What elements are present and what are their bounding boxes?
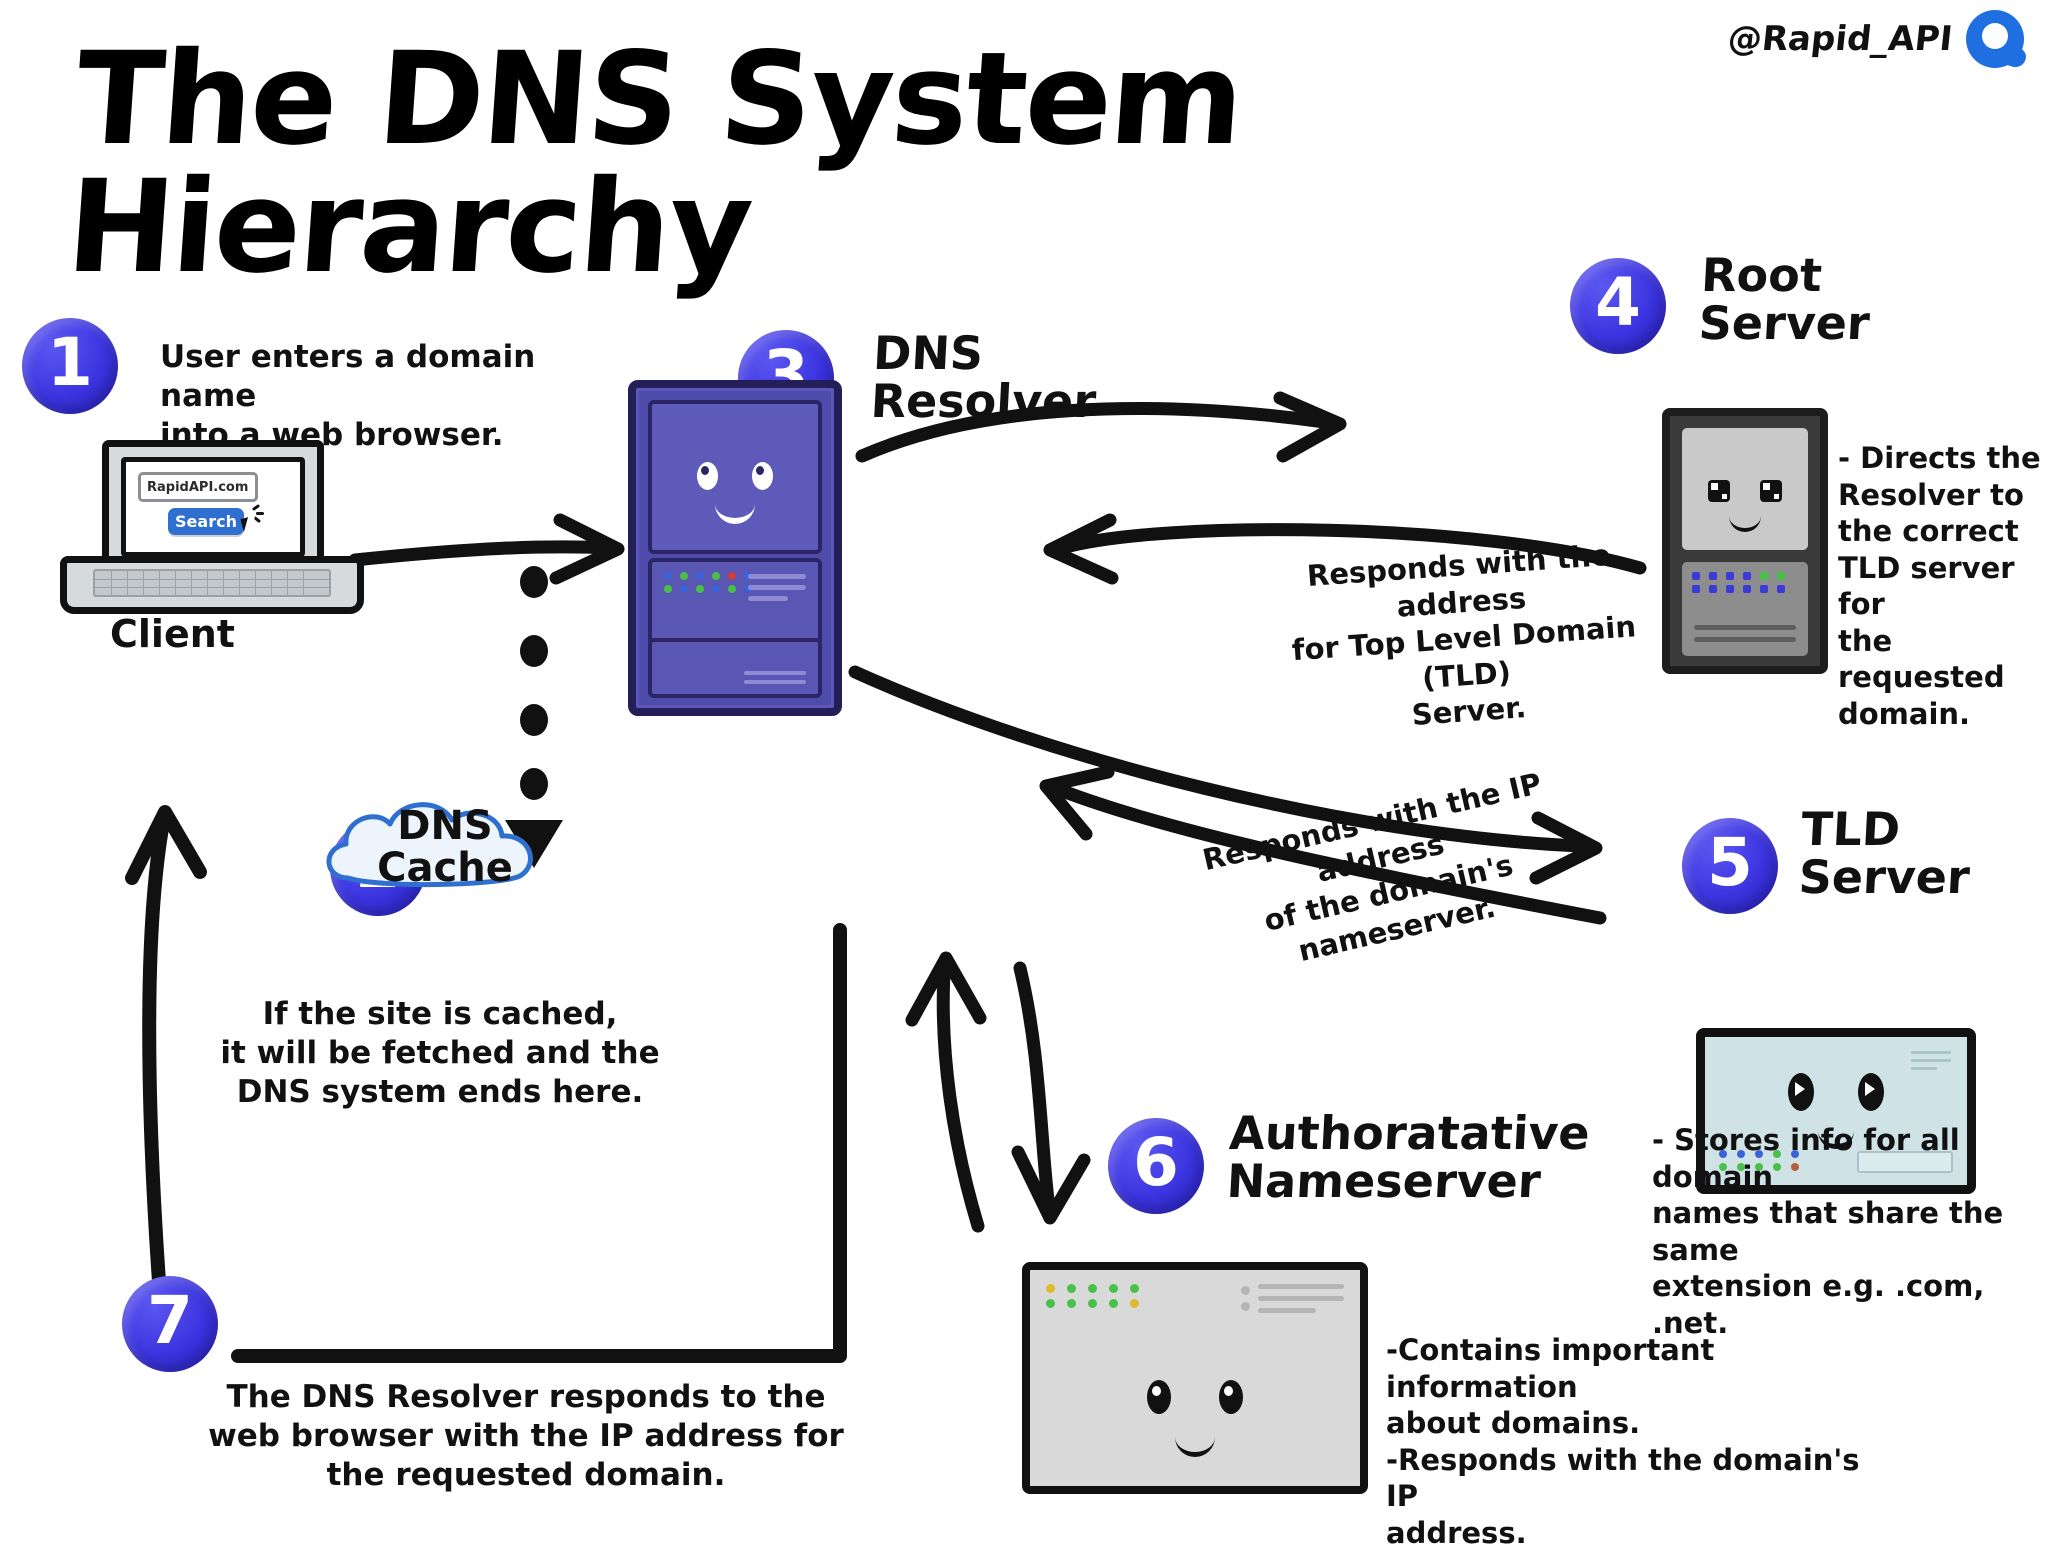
step-number-6: 6 xyxy=(1133,1130,1179,1196)
authoritative-nameserver-note: -Contains important information about do… xyxy=(1386,1332,1886,1551)
root-response-label: Responds with the address for Top Level … xyxy=(1278,535,1650,742)
step-badge-4: 4 xyxy=(1570,258,1666,354)
brand-handle: @Rapid_API xyxy=(1726,19,1955,59)
client-label: Client xyxy=(110,612,235,656)
client-laptop: RapidAPI.com Search xyxy=(60,440,350,600)
step-badge-5: 5 xyxy=(1682,818,1778,914)
dns-resolver-label: DNS Resolver xyxy=(869,330,1174,426)
page-title: The DNS System Hierarchy xyxy=(63,36,1501,292)
search-button[interactable]: Search xyxy=(168,508,244,535)
step-number-7: 7 xyxy=(147,1288,193,1354)
dns-resolver-box xyxy=(628,380,842,716)
root-server-note: - Directs the Resolver to the correct TL… xyxy=(1838,440,2048,732)
rapidapi-r-logo-icon xyxy=(1966,10,2024,68)
search-button-label: Search xyxy=(175,512,237,531)
root-server-label: Root Server xyxy=(1697,252,2002,348)
root-server-illustration xyxy=(1662,408,1828,674)
tld-server-note: - Stores info for all domain names that … xyxy=(1652,1122,2048,1341)
step-2-text: If the site is cached, it will be fetche… xyxy=(210,995,670,1112)
tld-response-label: Responds with the IP address of the doma… xyxy=(1178,760,1591,990)
step-number-5: 5 xyxy=(1707,830,1753,896)
step-7-text: The DNS Resolver responds to the web bro… xyxy=(196,1378,856,1495)
step-number-1: 1 xyxy=(47,330,93,396)
step-badge-6: 6 xyxy=(1108,1118,1204,1214)
browser-url-text: RapidAPI.com xyxy=(147,480,248,495)
step-1-text: User enters a domain name into a web bro… xyxy=(160,338,630,455)
tld-server-label: TLD Server xyxy=(1797,806,2048,902)
brand-mark: @Rapid_API xyxy=(1728,10,2024,68)
authoritative-nameserver-illustration xyxy=(1022,1262,1368,1494)
step-number-4: 4 xyxy=(1595,270,1641,336)
authoritative-nameserver-label: Authoratative Nameserver xyxy=(1225,1110,1570,1206)
browser-url-bar[interactable]: RapidAPI.com xyxy=(138,472,258,502)
step-badge-1: 1 xyxy=(22,318,118,414)
diagram-canvas: @Rapid_API The DNS System Hierarchy xyxy=(0,0,2048,1536)
step-badge-7: 7 xyxy=(122,1276,218,1372)
dns-cache-label: DNS Cache xyxy=(350,805,540,889)
